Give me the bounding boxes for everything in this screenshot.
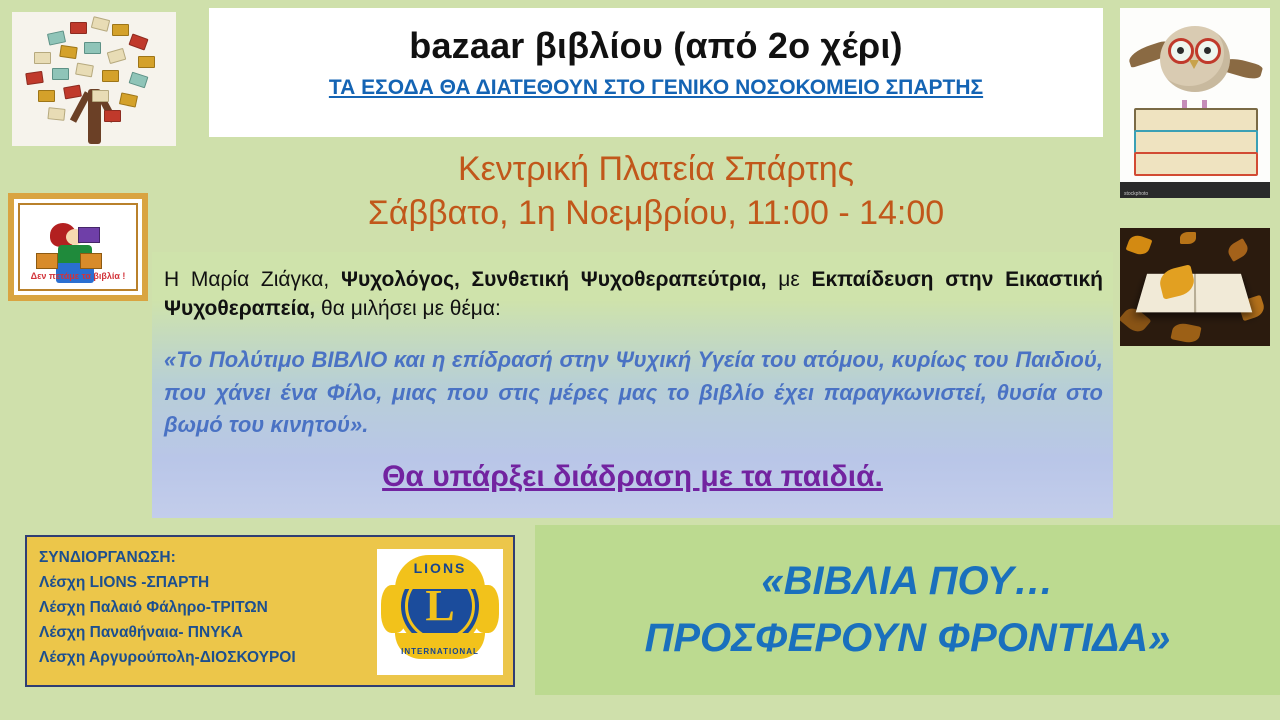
speaker-role-1: Ψυχολόγος, Συνθετική Ψυχοθεραπεύτρια, <box>341 268 767 291</box>
cartoon-book-right <box>80 253 102 269</box>
picture-frame-inner: Δεν πετάμε τα βιβλία ! <box>18 203 138 291</box>
speaker-intro-3: θα μιλήσει με θέμα: <box>315 297 501 320</box>
lions-top-banner: LIONS <box>395 555 485 589</box>
sponsor-box: ΣΥΝΔΙΟΡΓΑΝΩΣΗ: Λέσχη LIONS -ΣΠΑΡΤΗ Λέσχη… <box>25 535 515 687</box>
no-throw-books-cartoon: Δεν πετάμε τα βιβλία ! <box>8 193 148 301</box>
book-stack-middle <box>1134 130 1258 154</box>
poster-canvas: stockphoto Δεν πετάμε τα βιβλία ! bazaar… <box>0 0 1280 720</box>
speaker-paragraph: Η Μαρία Ζιάγκα, Ψυχολόγος, Συνθετική Ψυχ… <box>164 266 1103 324</box>
cartoon-book-top <box>78 227 100 243</box>
lions-bottom-banner: INTERNATIONAL <box>395 633 485 659</box>
sponsor-club-4: Λέσχη Αργυρούπολη-ΔΙΟΣΚΟΥΡΟΙ <box>39 645 379 670</box>
owl-on-books-illustration: stockphoto <box>1120 8 1270 198</box>
slogan-text: «ΒΙΒΛΙΑ ΠΟΥ… ΠΡΟΣΦΕΡΟΥΝ ΦΡΟΝΤΙΔΑ» <box>535 553 1280 667</box>
stockphoto-watermark-bar: stockphoto <box>1120 182 1270 198</box>
page-title: bazaar βιβλίου (από 2ο χέρι) <box>209 26 1103 66</box>
cartoon-caption: Δεν πετάμε τα βιβλία ! <box>20 271 136 281</box>
header-box: bazaar βιβλίου (από 2ο χέρι) ΤΑ ΕΣΟΔΑ ΘΑ… <box>209 8 1103 137</box>
speaker-intro-2: με <box>767 268 812 291</box>
talk-topic-quote: «Το Πολύτιμο ΒΙΒΛΙΟ και η επίδρασή στην … <box>164 344 1103 442</box>
open-book-autumn-leaves-photo <box>1120 228 1270 346</box>
sponsor-heading: ΣΥΝΔΙΟΡΓΑΝΩΣΗ: <box>39 545 379 570</box>
book-tree-illustration <box>12 12 176 146</box>
slogan-line-2: ΠΡΟΣΦΕΡΟΥΝ ΦΡΟΝΤΙΔΑ» <box>535 610 1280 667</box>
venue-place: Κεντρική Πλατεία Σπάρτης <box>209 148 1103 192</box>
speaker-intro-1: Η Μαρία Ζιάγκα, <box>164 268 341 291</box>
sponsor-club-3: Λέσχη Παναθήναια- ΠΝΥΚΑ <box>39 620 379 645</box>
book-stack-top <box>1134 108 1258 132</box>
lions-club-international-logo: L LIONS INTERNATIONAL <box>377 549 503 675</box>
slogan-box: «ΒΙΒΛΙΑ ΠΟΥ… ΠΡΟΣΦΕΡΟΥΝ ΦΡΟΝΤΙΔΑ» <box>535 525 1280 695</box>
sponsor-list: ΣΥΝΔΙΟΡΓΑΝΩΣΗ: Λέσχη LIONS -ΣΠΑΡΤΗ Λέσχη… <box>39 545 379 671</box>
lions-top-word: LIONS <box>395 560 485 576</box>
header-subtitle: ΤΑ ΕΣΟΔΑ ΘΑ ΔΙΑΤΕΘΟΥΝ ΣΤΟ ΓΕΝΙΚΟ ΝΟΣΟΚΟΜ… <box>209 76 1103 100</box>
lions-emblem: L LIONS INTERNATIONAL <box>385 555 495 667</box>
book-stack-bottom <box>1134 152 1258 176</box>
sponsor-club-1: Λέσχη LIONS -ΣΠΑΡΤΗ <box>39 570 379 595</box>
venue-datetime: Σάββατο, 1η Νοεμβρίου, 11:00 - 14:00 <box>209 192 1103 236</box>
slogan-line-1: «ΒΙΒΛΙΑ ΠΟΥ… <box>535 553 1280 610</box>
sponsor-club-2: Λέσχη Παλαιό Φάληρο-ΤΡΙΤΩΝ <box>39 595 379 620</box>
body-content-block: Η Μαρία Ζιάγκα, Ψυχολόγος, Συνθετική Ψυχ… <box>152 252 1113 518</box>
cartoon-book-left <box>36 253 58 269</box>
venue-block: Κεντρική Πλατεία Σπάρτης Σάββατο, 1η Νοε… <box>209 148 1103 235</box>
lions-bottom-word: INTERNATIONAL <box>395 647 485 656</box>
interaction-notice: Θα υπάρξει διάδραση με τα παιδιά. <box>152 460 1113 494</box>
owl-beak <box>1189 60 1199 69</box>
